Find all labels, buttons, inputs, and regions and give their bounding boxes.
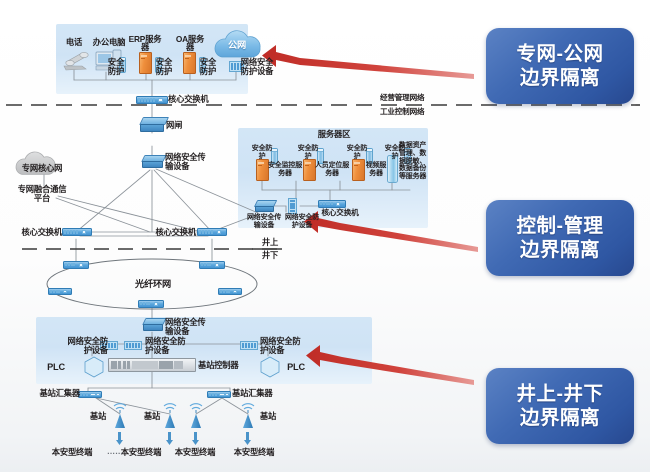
label-oa-server: OA服务器 [172, 35, 208, 52]
arrow-to-control-management-callout [304, 211, 478, 252]
core-switch-left-icon [62, 228, 92, 236]
label-server-zone-title: 服务器区 [308, 130, 360, 139]
terminal-icon-4 [244, 432, 251, 445]
base-station-antenna-1 [114, 404, 126, 428]
label-telephone: 电话 [57, 38, 91, 47]
diagram-canvas: 电话 办公电脑 ERP服务器 OA服务器 公网 安全防护 安全防护 安全防护 网… [0, 0, 650, 472]
callout-3-line1: 井上-井下 [517, 382, 604, 406]
callout-uphole-downhole-isolation[interactable]: 井上-井下 边界隔离 [486, 368, 634, 444]
label-security-monitoring-server: 安全监控服务器 [268, 162, 302, 177]
ring-switch-bottom [138, 300, 164, 308]
label-protection-device-downhole-mid: 网络安全防护设备 [145, 337, 189, 355]
label-protection-device-downhole-right: 网络安全防护设备 [260, 337, 304, 355]
label-base-station-controller: 基站控制器 [198, 361, 246, 370]
plc-left-icon [85, 357, 103, 377]
callout-2-line1: 控制-管理 [517, 214, 604, 238]
label-plc-left: PLC [42, 363, 70, 373]
label-terminal-4: 本安型终端 [226, 448, 282, 457]
label-office-pc: 办公电脑 [87, 38, 131, 47]
erp-server-icon [139, 52, 152, 74]
label-protection-oa: 安全防护 [196, 58, 220, 75]
arrow-to-private-public-callout [262, 45, 474, 79]
label-core-switch-right: 核心交换机 [150, 228, 196, 237]
label-downhole: 井下 [258, 251, 282, 260]
label-terminal-3: 本安型终端 [167, 448, 223, 457]
network-security-protection-device-server-zone [288, 198, 297, 214]
label-protection-pc: 安全防护 [104, 58, 128, 75]
label-fiber-ring: 光纤环网 [124, 280, 182, 290]
label-core-switch-left: 核心交换机 [20, 228, 62, 237]
base-station-aggregator-left-icon [78, 391, 102, 398]
label-base-station-2: 基站 [138, 412, 166, 421]
base-station-aggregator-right-icon [207, 391, 231, 398]
label-protection-erp: 安全防护 [152, 58, 176, 75]
label-terminal-1: 本安型终端 [44, 448, 100, 457]
label-aggregator-left: 基站汇集器 [34, 389, 80, 398]
label-protection-monitoring: 安全防护 [250, 145, 274, 160]
label-core-switch-top: 核心交换机 [168, 95, 220, 104]
base-station-antenna-3 [190, 404, 202, 428]
base-station-antenna-4 [242, 404, 254, 428]
label-data-asset-server: 数据资产管理、数据脱敏、数据备份等服务器 [399, 142, 429, 181]
label-private-converged-platform: 专网融合通信平台 [16, 185, 68, 203]
terminal-icon-1 [116, 432, 123, 445]
callout-control-management-isolation[interactable]: 控制-管理 边界隔离 [486, 200, 634, 276]
label-network-security-protection-device-office: 网络安全防护设备 [240, 58, 274, 76]
terminal-icon-2 [166, 432, 173, 445]
callout-private-public-isolation[interactable]: 专网-公网 边界隔离 [486, 28, 634, 104]
label-protection-device-downhole-left: 网络安全防护设备 [64, 337, 108, 355]
callout-1-line2: 边界隔离 [520, 66, 600, 90]
network-security-protection-device-downhole-right [240, 341, 258, 350]
callout-1-line1: 专网-公网 [517, 42, 604, 66]
network-security-transmission-device-upper [141, 155, 163, 169]
network-security-transmission-device-server-zone [254, 200, 274, 213]
base-station-controller-icon [108, 358, 196, 372]
label-personnel-positioning-server: 人员定位服务器 [315, 162, 349, 177]
callout-2-line2: 边界隔离 [520, 238, 600, 262]
label-plc-right: PLC [282, 363, 310, 373]
ring-switch-top-right [199, 261, 225, 269]
label-network-security-transmission-device-upper: 网络安全传输设备 [165, 153, 207, 171]
label-aggregator-right: 基站汇集器 [232, 389, 278, 398]
label-protection-positioning: 安全防护 [296, 145, 320, 160]
ring-switch-left [48, 288, 72, 295]
core-switch-top-icon [136, 96, 168, 104]
server-zone-core-switch-icon [318, 200, 346, 208]
label-base-station-3: 基站 [254, 412, 282, 421]
label-public-network: 公网 [218, 41, 256, 51]
label-erp-server: ERP服务器 [126, 35, 164, 52]
arrow-to-uphole-downhole-callout [306, 345, 474, 385]
plc-right-icon [261, 357, 279, 377]
telephone-icon [64, 52, 88, 70]
label-video-server: 视频服务器 [364, 162, 388, 177]
ring-switch-right [218, 288, 242, 295]
label-core-switch-server-zone: 核心交换机 [316, 209, 364, 217]
network-gatekeeper-icon [139, 117, 165, 133]
label-business-network: 经营管理网络 [380, 94, 442, 102]
label-industrial-network: 工业控制网络 [380, 108, 442, 116]
label-transmission-device-downhole: 网络安全传输设备 [165, 318, 207, 336]
callout-3-line2: 边界隔离 [520, 406, 600, 430]
label-private-core-network: 专网核心网 [14, 164, 70, 173]
label-base-station-1: 基站 [84, 412, 112, 421]
label-protection-video: 安全防护 [345, 145, 369, 160]
terminal-icon-3 [192, 432, 199, 445]
label-network-gatekeeper: 网闸 [166, 121, 192, 130]
network-security-protection-device-downhole-mid [124, 341, 142, 350]
label-transmission-device-server-zone: 网络安全传输设备 [244, 214, 284, 229]
label-uphole: 井上 [258, 238, 282, 247]
label-terminal-ellipsis: …… [102, 447, 128, 456]
network-security-transmission-device-downhole [142, 318, 163, 332]
oa-server-icon [183, 52, 196, 74]
core-switch-right-icon [197, 228, 227, 236]
ring-switch-top-left [63, 261, 89, 269]
